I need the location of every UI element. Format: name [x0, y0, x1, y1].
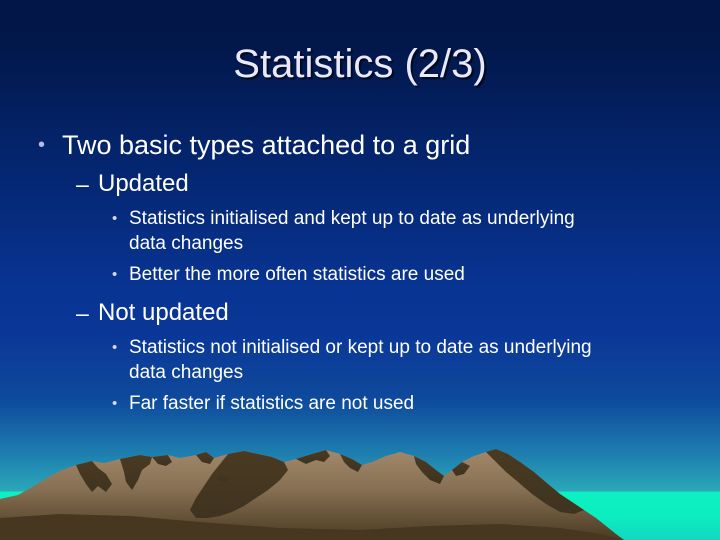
mountain-range-graphic — [0, 440, 720, 540]
bullet-level1: • Two basic types attached to a grid — [0, 128, 720, 162]
bullet-text: Statistics not initialised or kept up to… — [129, 335, 599, 385]
bullet-dash-icon: – — [76, 168, 98, 200]
slide-body: • Two basic types attached to a grid – U… — [0, 128, 720, 417]
bullet-dot-icon: • — [112, 391, 129, 416]
bullet-dot-icon: • — [112, 335, 129, 360]
bullet-text: Statistics initialised and kept up to da… — [129, 206, 599, 256]
bullet-text: Far faster if statistics are not used — [129, 391, 414, 416]
slide-title: Statistics (2/3) — [0, 40, 720, 88]
bullet-dash-icon: – — [76, 297, 98, 329]
bullet-level3: • Better the more often statistics are u… — [0, 262, 720, 287]
bullet-dot-icon: • — [112, 262, 129, 287]
bullet-text: Updated — [98, 168, 189, 200]
bullet-dot-icon: • — [112, 206, 129, 231]
presentation-slide: Statistics (2/3) • Two basic types attac… — [0, 0, 720, 540]
bullet-text: Better the more often statistics are use… — [129, 262, 465, 287]
bullet-text: Not updated — [98, 297, 229, 329]
bullet-level2-not-updated: – Not updated — [0, 297, 720, 329]
bullet-text: Two basic types attached to a grid — [62, 128, 470, 162]
bullet-dot-icon: • — [38, 128, 62, 162]
bullet-level3: • Statistics initialised and kept up to … — [0, 206, 720, 256]
bullet-level3: • Far faster if statistics are not used — [0, 391, 720, 416]
bullet-level2-updated: – Updated — [0, 168, 720, 200]
bullet-level3: • Statistics not initialised or kept up … — [0, 335, 720, 385]
